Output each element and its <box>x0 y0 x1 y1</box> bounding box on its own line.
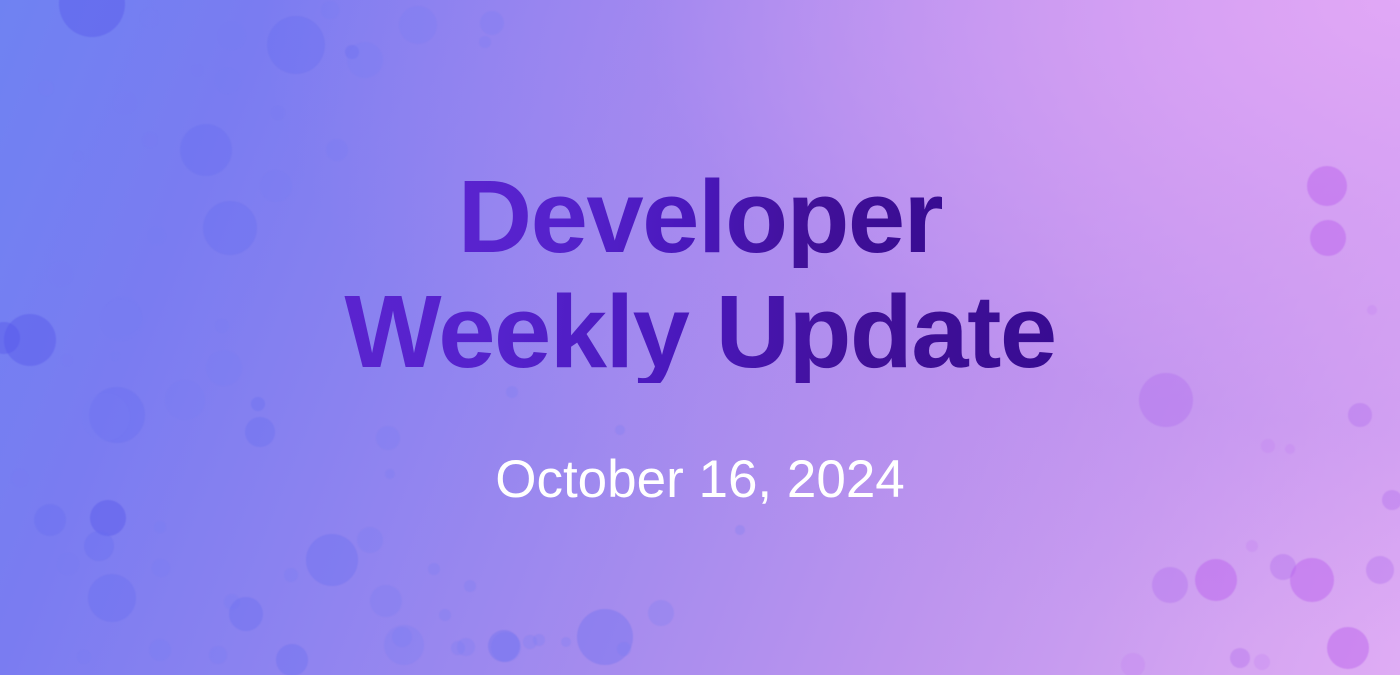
banner-content: Developer Weekly Update October 16, 2024 <box>0 0 1400 675</box>
banner-title-line-2: Weekly Update <box>344 280 1055 383</box>
banner-title-line-1: Developer <box>458 165 943 268</box>
developer-weekly-update-banner: Developer Weekly Update October 16, 2024 <box>0 0 1400 675</box>
banner-date: October 16, 2024 <box>495 449 905 510</box>
